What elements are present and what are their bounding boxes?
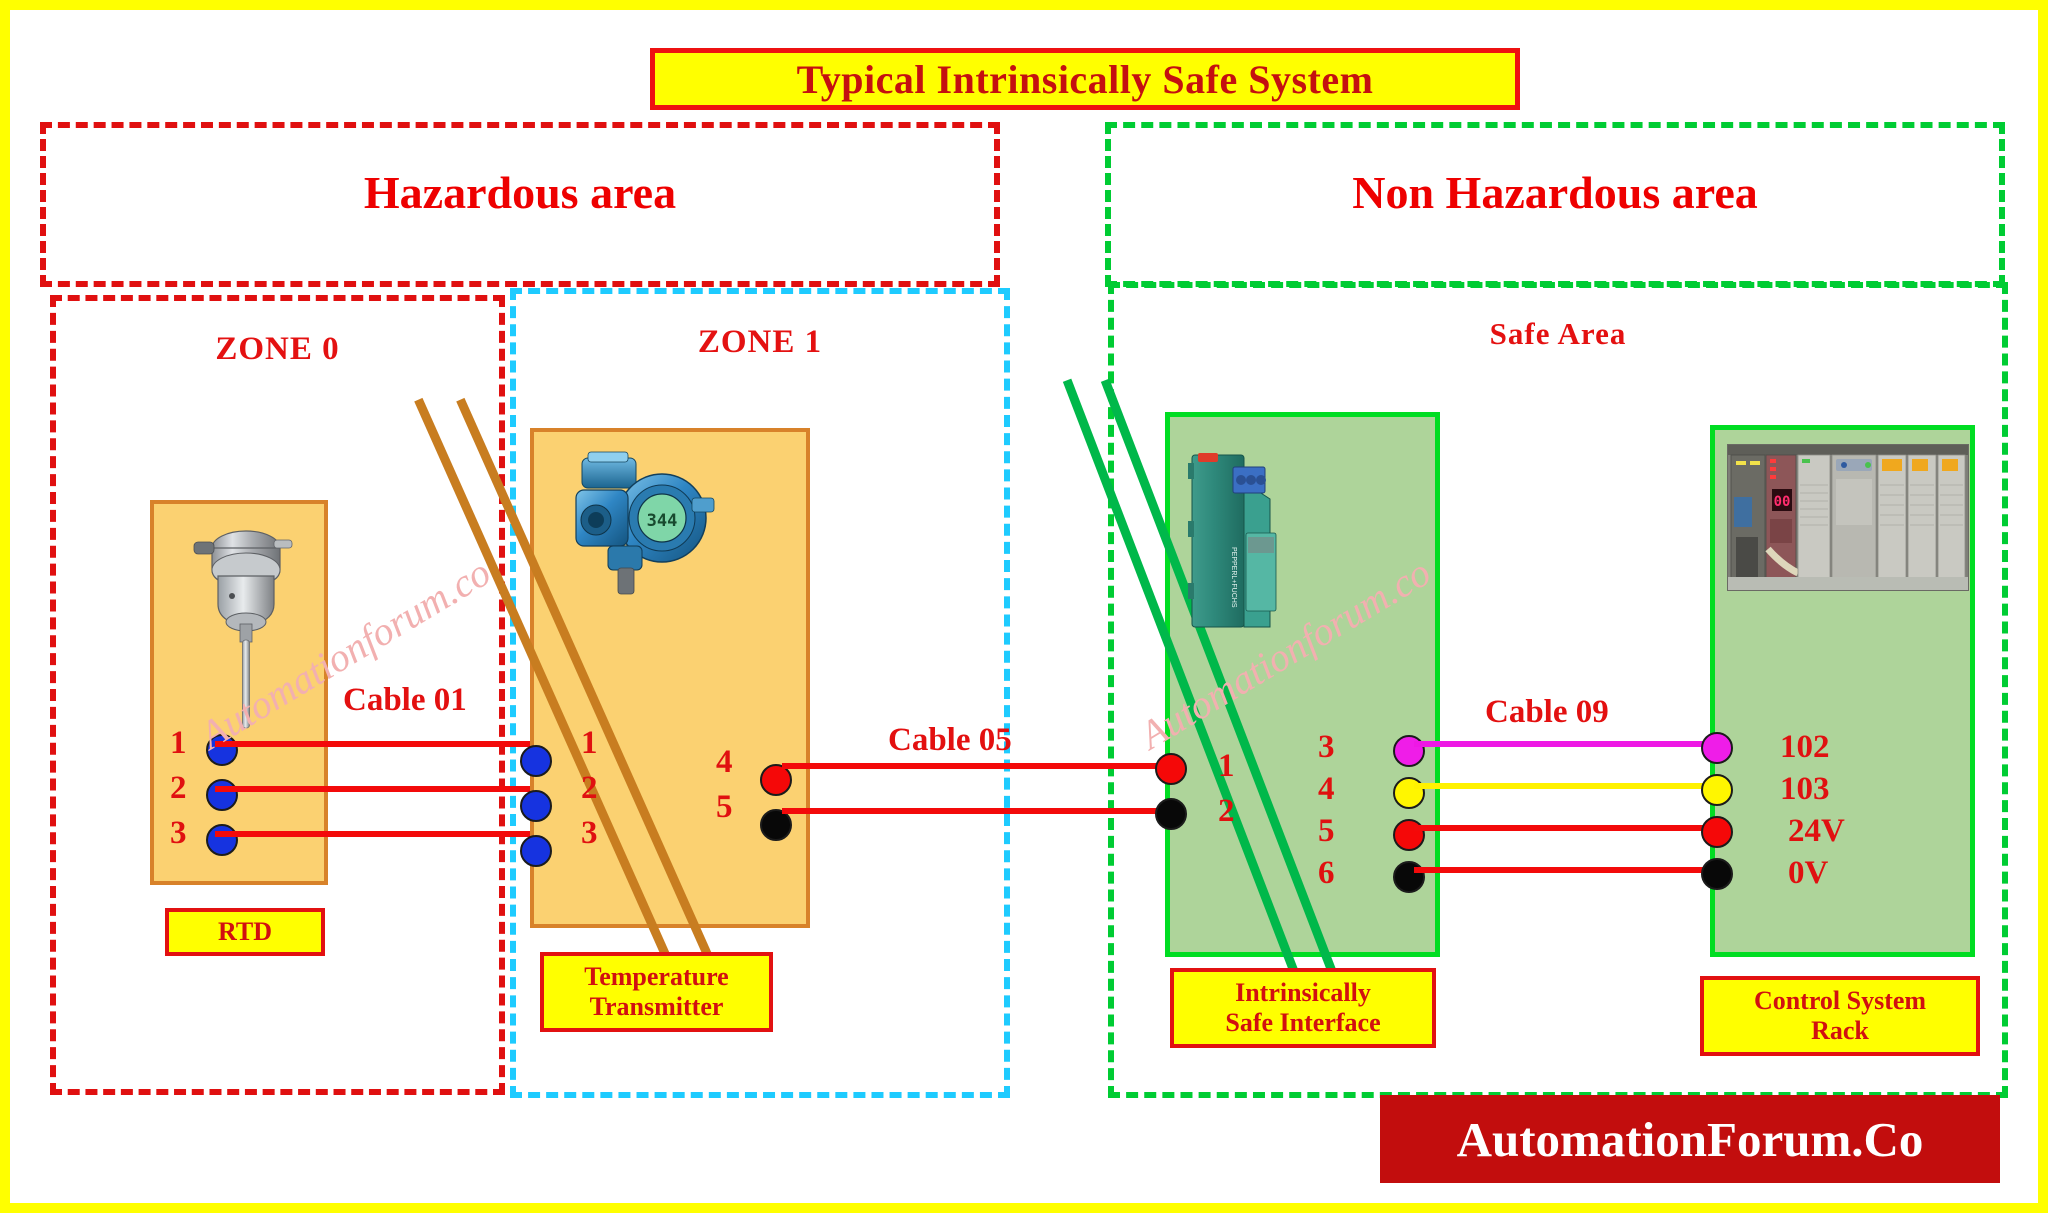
rack-terminal-dot-102[interactable] [1701,732,1733,764]
temperature-transmitter-image: 344 [566,450,726,610]
rack-caption-line1: Control System [1754,986,1926,1016]
rack-terminal-label-0v: 0V [1788,858,1828,888]
cable-09-label: Cable 09 [1485,694,1609,731]
interface-in-terminal-dot-2[interactable] [1155,798,1187,830]
transmitter-caption: Temperature Transmitter [540,952,773,1032]
transmitter-in-terminal-dot-2[interactable] [520,790,552,822]
rtd-sensor-image [174,518,314,733]
interface-out-terminal-dot-3[interactable] [1393,735,1425,767]
rack-caption-line2: Rack [1811,1016,1869,1046]
interface-out-terminal-dot-4[interactable] [1393,777,1425,809]
interface-caption: Intrinsically Safe Interface [1170,968,1436,1048]
transmitter-out-terminal-label-4: 4 [716,747,733,777]
rtd-terminal-dot-2[interactable] [206,779,238,811]
cable-05-label: Cable 05 [888,722,1012,759]
transmitter-in-terminal-label-3: 3 [581,818,598,848]
non-hazardous-area-label: Non Hazardous area [1111,166,1999,219]
diagram-title-box: Typical Intrinsically Safe System [650,48,1520,110]
rack-caption: Control System Rack [1700,976,1980,1056]
transmitter-caption-line2: Transmitter [590,992,724,1022]
zone-0-label: ZONE 0 [56,331,499,368]
rack-terminal-dot-24v[interactable] [1701,816,1733,848]
transmitter-in-terminal-dot-1[interactable] [520,745,552,777]
interface-in-terminal-label-2: 2 [1218,796,1235,826]
rtd-terminal-label-3: 3 [170,818,187,848]
diagram-canvas: Typical Intrinsically Safe System Hazard… [10,10,2038,1203]
intrinsically-safe-interface-panel: PEPPERL+FUCHS [1165,412,1440,957]
svg-text:344: 344 [647,511,678,531]
interface-out-terminal-label-3: 3 [1318,732,1335,762]
transmitter-caption-line1: Temperature [584,962,728,992]
cable-01-label: Cable 01 [343,682,467,719]
interface-in-terminal-label-1: 1 [1218,751,1235,781]
interface-out-terminal-label-6: 6 [1318,858,1335,888]
svg-text:PEPPERL+FUCHS: PEPPERL+FUCHS [1230,547,1237,608]
rtd-terminal-label-1: 1 [170,728,187,758]
cable-05-wire-1 [782,763,1192,769]
transmitter-in-terminal-label-1: 1 [581,728,598,758]
interface-out-terminal-dot-5[interactable] [1393,819,1425,851]
transmitter-in-terminal-dot-3[interactable] [520,835,552,867]
cable-01-wire-3 [215,831,560,837]
interface-in-terminal-dot-1[interactable] [1155,753,1187,785]
hazardous-area-box: Hazardous area [40,122,1000,287]
rack-terminal-label-103: 103 [1780,774,1830,804]
interface-out-terminal-dot-6[interactable] [1393,861,1425,893]
cable-01-wire-1 [215,741,560,747]
interface-out-terminal-label-4: 4 [1318,774,1335,804]
transmitter-out-terminal-label-5: 5 [716,792,733,822]
svg-text:00: 00 [1774,494,1791,510]
rtd-caption-text: RTD [218,917,272,947]
plc-rack-image: 00 [1727,444,1969,591]
zone-1-label: ZONE 1 [516,324,1004,361]
safe-area-label: Safe Area [1114,316,2002,352]
rtd-caption: RTD [165,908,325,956]
interface-out-terminal-label-5: 5 [1318,816,1335,846]
interface-caption-line2: Safe Interface [1225,1008,1380,1038]
automationforum-logo: AutomationForum.Co [1380,1095,2000,1183]
rack-terminal-label-24v: 24V [1788,816,1845,846]
page-title: Typical Intrinsically Safe System [797,56,1374,103]
rtd-terminal-label-2: 2 [170,773,187,803]
cable-05-wire-2 [782,808,1192,814]
control-system-rack-panel: 00 [1710,425,1975,957]
rtd-terminal-dot-1[interactable] [206,734,238,766]
automationforum-logo-text: AutomationForum.Co [1457,1111,1924,1168]
non-hazardous-area-box: Non Hazardous area [1105,122,2005,287]
temperature-transmitter-panel: 344 [530,428,810,928]
hazardous-area-label: Hazardous area [46,166,994,219]
isolated-barrier-image: PEPPERL+FUCHS [1184,437,1309,637]
cable-01-wire-2 [215,786,560,792]
transmitter-in-terminal-label-2: 2 [581,773,598,803]
rack-terminal-label-102: 102 [1780,732,1830,762]
rack-terminal-dot-0v[interactable] [1701,858,1733,890]
rtd-terminal-dot-3[interactable] [206,824,238,856]
interface-caption-line1: Intrinsically [1235,978,1371,1008]
rack-terminal-dot-103[interactable] [1701,774,1733,806]
